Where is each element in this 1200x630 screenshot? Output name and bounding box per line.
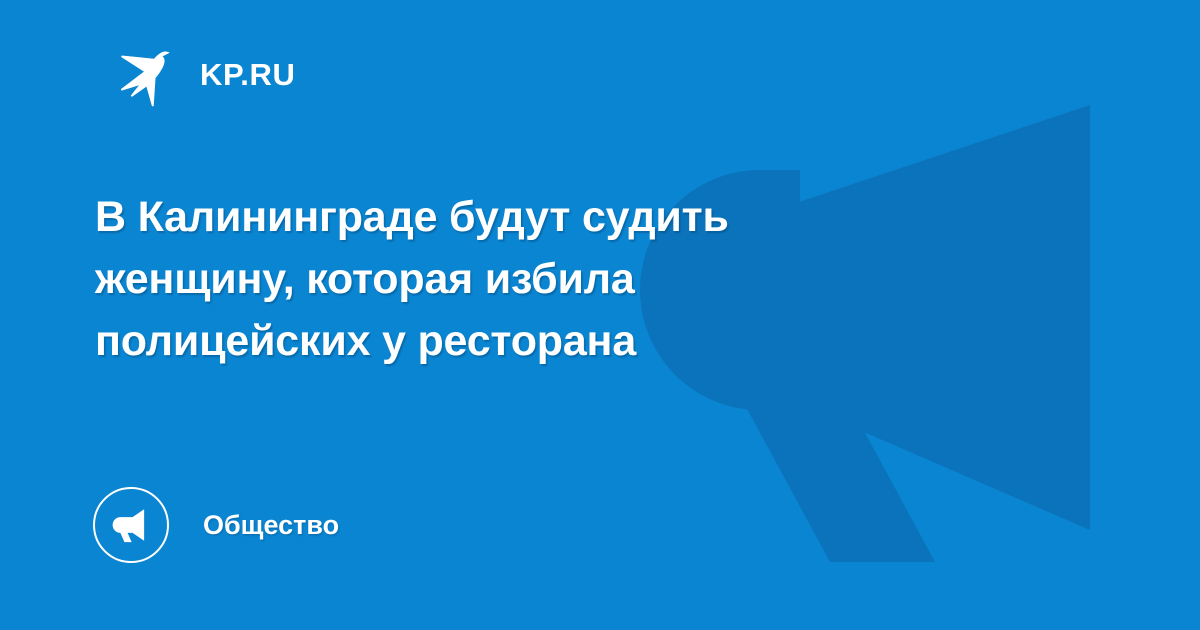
swallow-bird-icon xyxy=(106,38,178,110)
headline-line-2: женщину, которая избила xyxy=(95,248,995,310)
brand-logo[interactable]: KP.RU xyxy=(106,38,295,110)
megaphone-icon xyxy=(93,487,169,563)
page-title: В Калининграде будут судить женщину, кот… xyxy=(95,186,995,372)
category-badge[interactable]: Общество xyxy=(93,487,339,563)
category-label: Общество xyxy=(203,512,339,539)
social-share-card: KP.RU В Калининграде будут судить женщин… xyxy=(0,0,1200,630)
brand-name: KP.RU xyxy=(200,59,295,90)
headline-line-3: полицейских у ресторана xyxy=(95,310,995,372)
headline-line-1: В Калининграде будут судить xyxy=(95,186,995,248)
